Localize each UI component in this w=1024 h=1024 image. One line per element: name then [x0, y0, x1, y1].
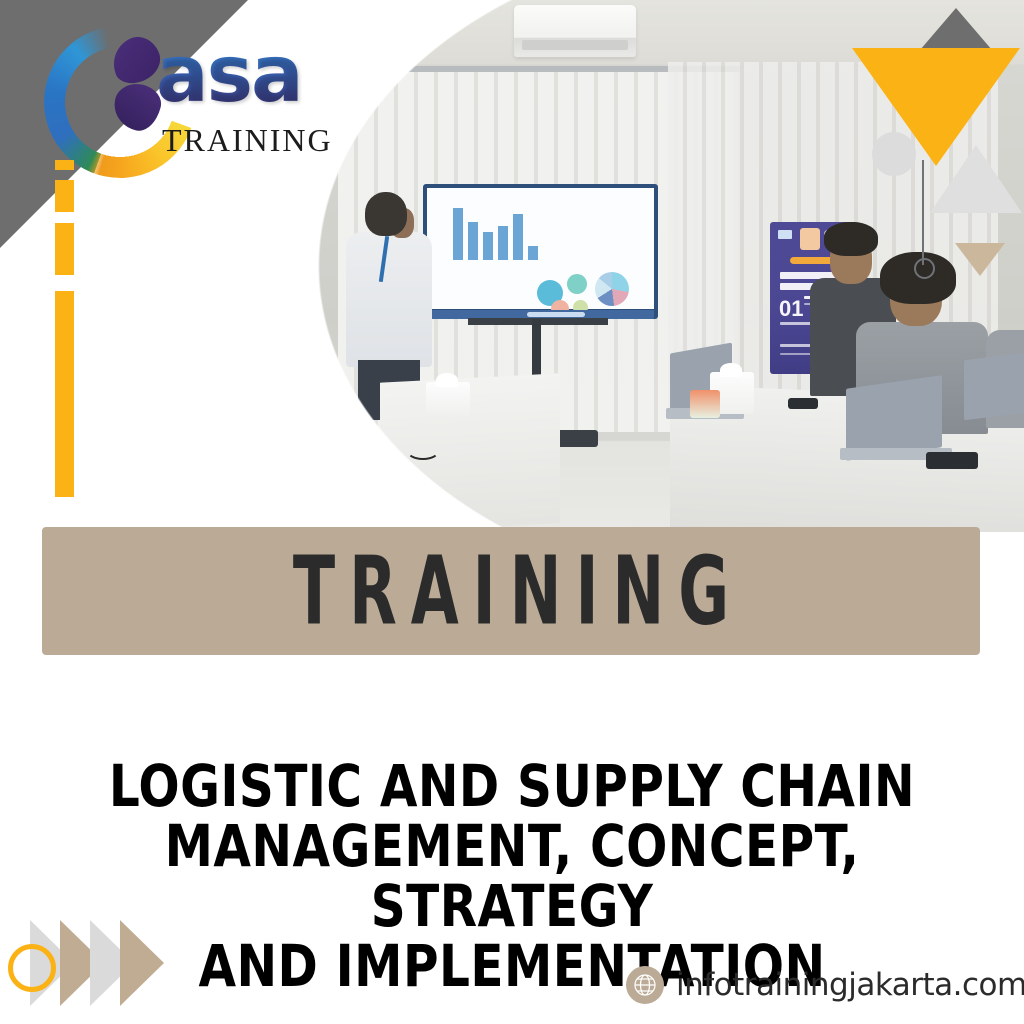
presenter-body: [346, 232, 432, 367]
phone-2: [788, 398, 818, 409]
footer: infotrainingjakarta.com: [626, 966, 1024, 1004]
casa-training-logo: asa TRAINING: [38, 22, 338, 156]
cable-loop: [406, 440, 440, 460]
yellow-ring-icon: [8, 944, 56, 992]
chevron-4-icon: [120, 920, 164, 1006]
training-flyer-poster: 01 02: [0, 0, 1024, 1024]
logo-subtitle: TRAINING: [162, 122, 333, 159]
yellow-dash-4: [55, 291, 74, 497]
white-triangle-up-icon: [930, 145, 1022, 213]
air-conditioner-icon: [514, 5, 636, 57]
yellow-dash-1: [55, 160, 74, 170]
presenter-head: [365, 192, 407, 236]
yellow-dash-2: [55, 180, 74, 212]
screen-bubble-2: [567, 274, 587, 294]
hanging-ring: [914, 258, 935, 279]
presentation-screen: [423, 184, 658, 319]
training-banner-label: TRAINING: [279, 536, 743, 646]
website-url[interactable]: infotrainingjakarta.com: [676, 967, 1024, 1003]
title-line-2: MANAGEMENT, CONCEPT, STRATEGY: [36, 816, 988, 936]
hanging-rod: [922, 160, 924, 265]
screen-content: [427, 188, 654, 309]
laptop-3-lid: [964, 352, 1024, 421]
screen-bar-chart: [453, 208, 538, 260]
tissue-pack: [690, 390, 720, 418]
training-banner: TRAINING: [42, 527, 980, 655]
tissue-box-2: [426, 382, 470, 416]
phone-1: [926, 452, 978, 469]
screen-pie-chart: [595, 272, 629, 306]
tan-triangle-down-icon: [955, 243, 1005, 276]
participant-1-head: [824, 222, 878, 256]
yellow-dash-3: [55, 223, 74, 275]
logo-wordmark: asa: [156, 36, 302, 114]
gray-circle-icon: [872, 132, 916, 176]
casa-logo-mark-icon: [38, 22, 166, 150]
title-line-1: LOGISTIC AND SUPPLY CHAIN: [36, 756, 988, 816]
globe-icon: [626, 966, 664, 1004]
